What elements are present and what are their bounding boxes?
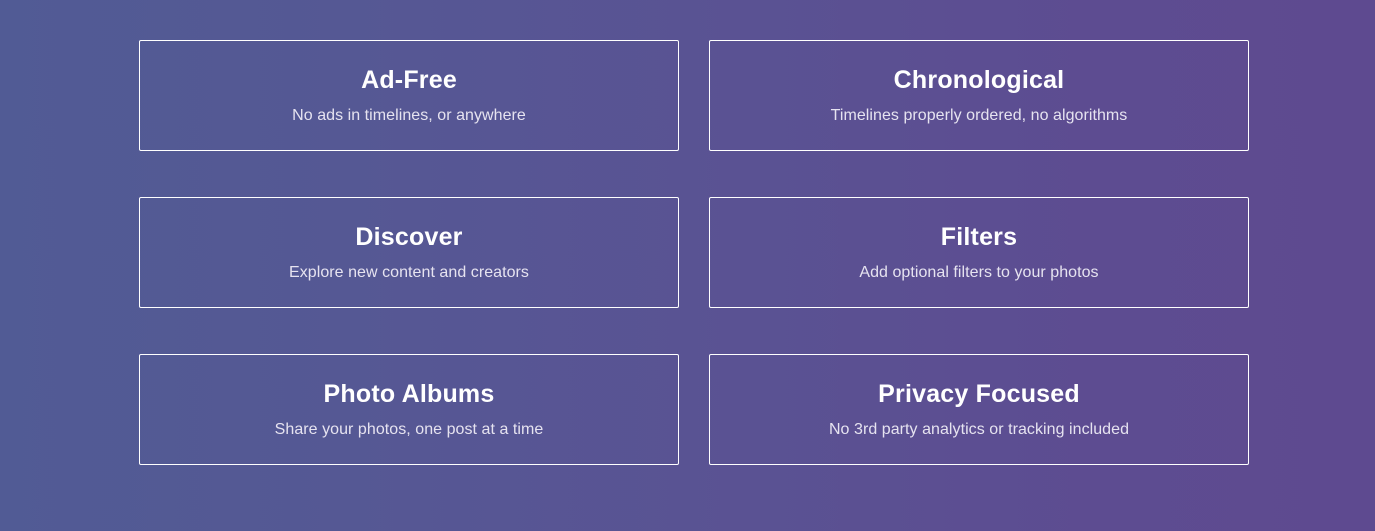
feature-card-grid: Ad-Free No ads in timelines, or anywhere… — [139, 40, 1249, 465]
feature-card-subtitle: Timelines properly ordered, no algorithm… — [831, 106, 1128, 125]
feature-card-title: Privacy Focused — [878, 380, 1080, 409]
feature-card-title: Chronological — [894, 66, 1065, 95]
feature-card-subtitle: Explore new content and creators — [289, 263, 529, 282]
feature-card-title: Filters — [941, 223, 1017, 252]
feature-card-title: Ad-Free — [361, 66, 457, 95]
feature-card-title: Discover — [355, 223, 462, 252]
feature-card-subtitle: Add optional filters to your photos — [859, 263, 1098, 282]
feature-card-chronological[interactable]: Chronological Timelines properly ordered… — [709, 40, 1249, 151]
feature-card-subtitle: No ads in timelines, or anywhere — [292, 106, 526, 125]
feature-card-discover[interactable]: Discover Explore new content and creator… — [139, 197, 679, 308]
feature-highlights-section: Ad-Free No ads in timelines, or anywhere… — [0, 0, 1375, 531]
feature-card-filters[interactable]: Filters Add optional filters to your pho… — [709, 197, 1249, 308]
feature-card-photo-albums[interactable]: Photo Albums Share your photos, one post… — [139, 354, 679, 465]
feature-card-ad-free[interactable]: Ad-Free No ads in timelines, or anywhere — [139, 40, 679, 151]
feature-card-privacy-focused[interactable]: Privacy Focused No 3rd party analytics o… — [709, 354, 1249, 465]
feature-card-subtitle: Share your photos, one post at a time — [275, 420, 544, 439]
feature-card-subtitle: No 3rd party analytics or tracking inclu… — [829, 420, 1129, 439]
feature-card-title: Photo Albums — [324, 380, 495, 409]
